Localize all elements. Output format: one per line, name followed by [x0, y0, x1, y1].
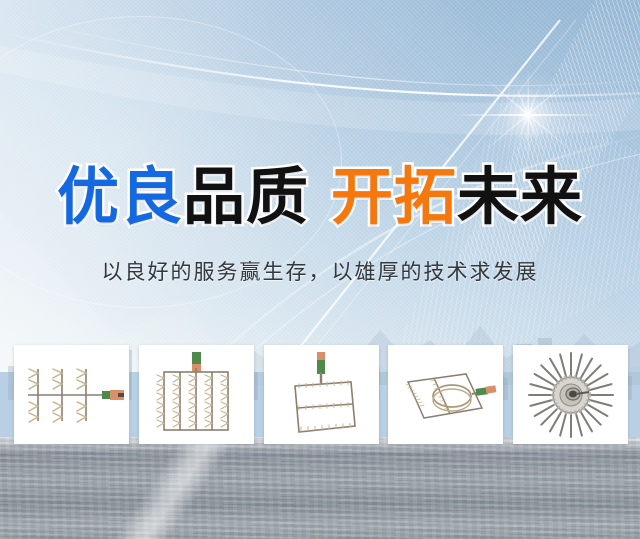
- dense-tooth-frame-rack-icon: [148, 350, 244, 440]
- product-card-dense-tooth-frame-rack[interactable]: [139, 345, 254, 444]
- radial-star-rack-icon: [523, 350, 619, 440]
- ground-surface: [0, 437, 640, 539]
- hero-banner: 优良品质开拓未来 以良好的服务赢生存，以雄厚的技术求发展: [0, 0, 640, 539]
- product-card-flat-panel-rack[interactable]: [264, 345, 379, 444]
- page-title: 优良品质开拓未来: [0, 166, 640, 228]
- headline-part-1: 优良: [57, 160, 183, 233]
- product-thumbnail-strip: [14, 345, 628, 444]
- banner-subtitle: 以良好的服务赢生存，以雄厚的技术求发展: [0, 259, 640, 286]
- product-card-ring-frame-rack[interactable]: [388, 345, 503, 444]
- product-card-radial-star-rack[interactable]: [513, 345, 628, 444]
- headline-part-3: 开拓: [331, 160, 457, 233]
- headline-part-4: 未来: [457, 160, 583, 233]
- ring-frame-rack-icon: [394, 356, 498, 434]
- comb-rack-icon: [18, 351, 126, 439]
- headline-part-2: 品质: [183, 160, 309, 233]
- flat-panel-rack-icon: [273, 350, 369, 440]
- product-card-comb-rack[interactable]: [14, 345, 129, 444]
